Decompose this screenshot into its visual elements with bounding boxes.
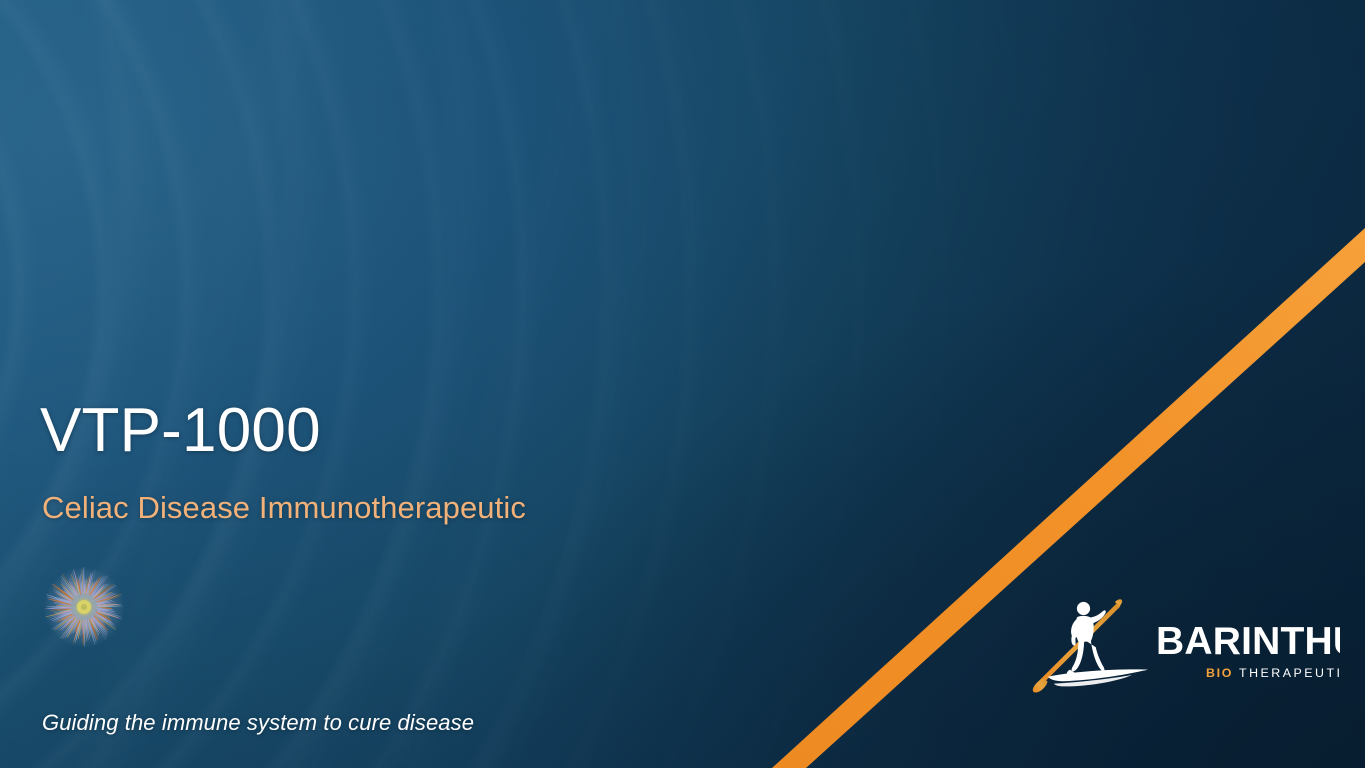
logo-wordmark: BARINTHUS <box>1156 620 1340 663</box>
virus-like-particle-icon <box>40 563 128 651</box>
logo-descriptor-rest: THERAPEUTICS <box>1239 666 1340 680</box>
logo-descriptor-accent: BIO <box>1206 666 1233 680</box>
slide-canvas: VTP-1000 Celiac Disease Immunotherapeuti… <box>0 0 1365 768</box>
tagline: Guiding the immune system to cure diseas… <box>42 710 474 736</box>
page-subtitle: Celiac Disease Immunotherapeutic <box>42 489 526 526</box>
company-logo[interactable]: BARINTHUS BIO THERAPEUTICS <box>1020 594 1340 698</box>
paddleboarder-icon <box>1033 599 1148 692</box>
page-title: VTP-1000 <box>40 398 321 463</box>
